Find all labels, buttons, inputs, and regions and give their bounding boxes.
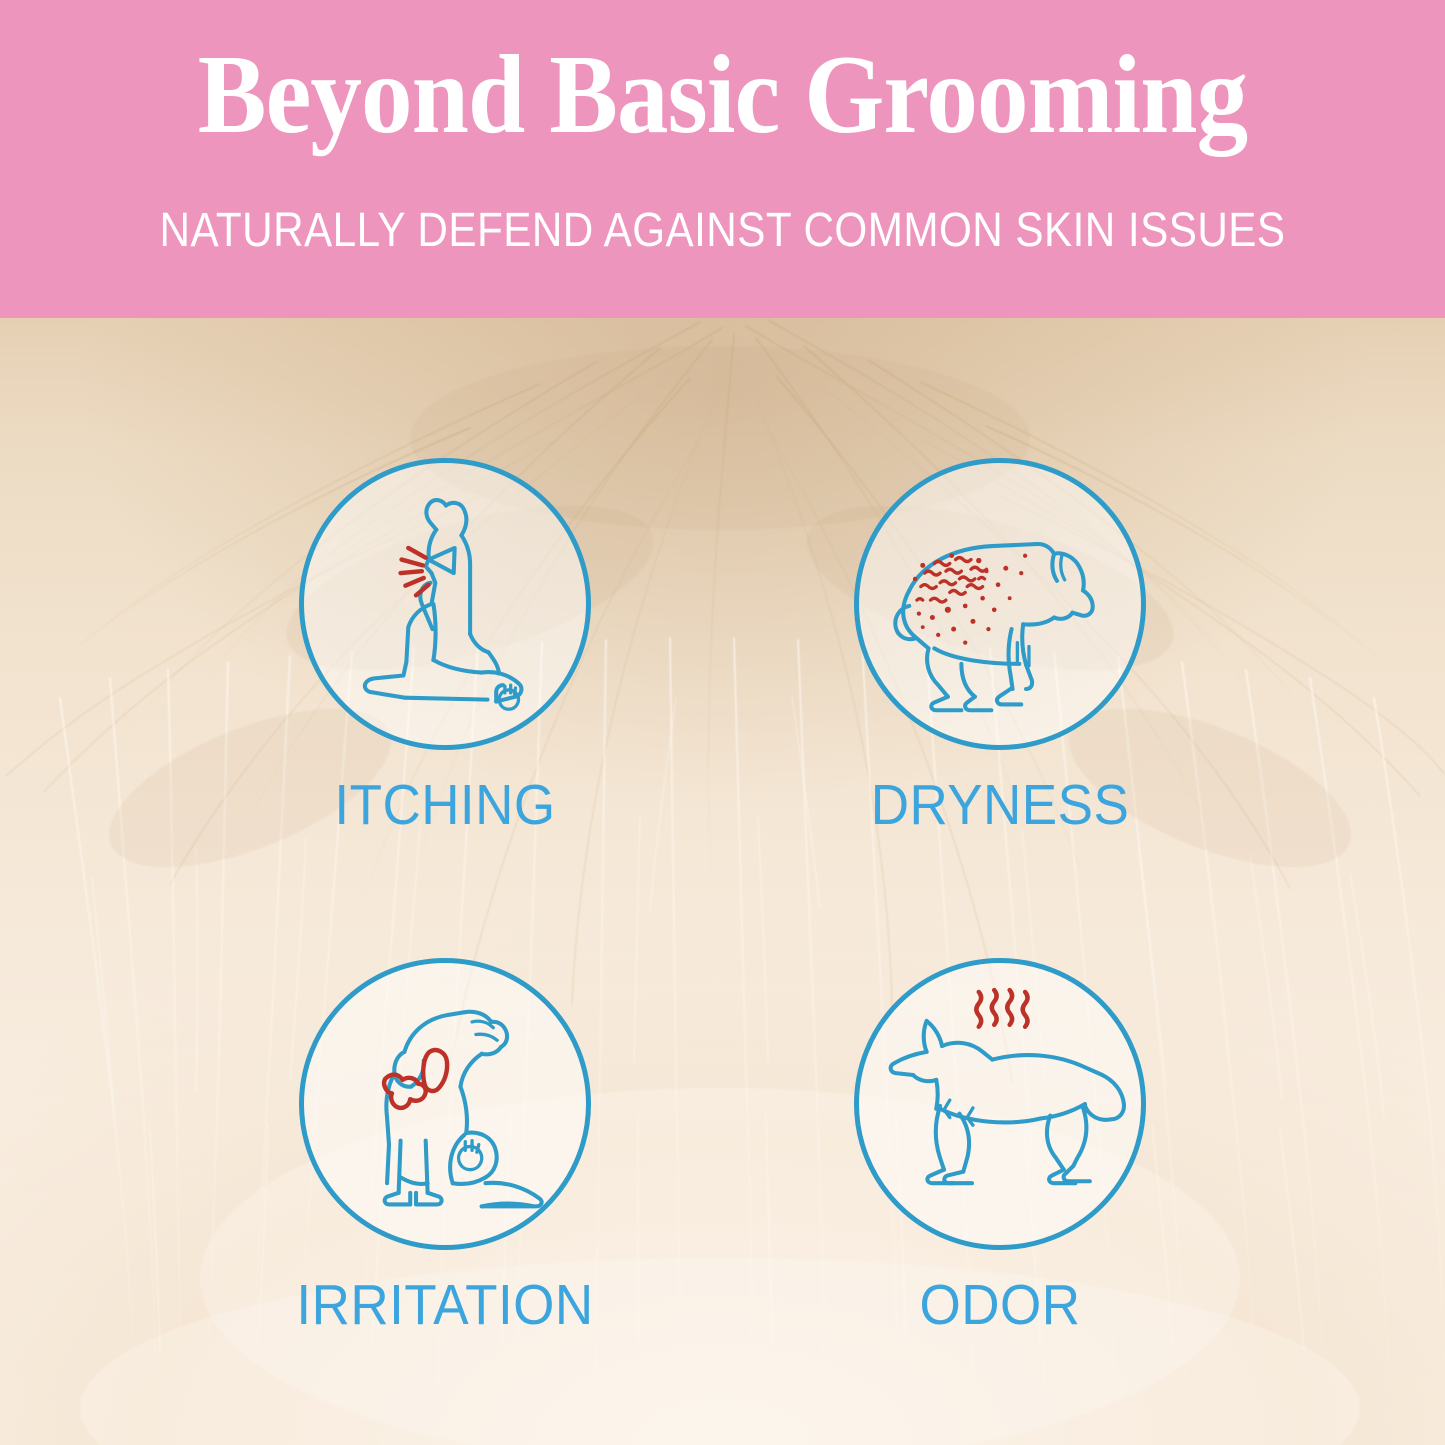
benefit-item-itching: ITCHING [235, 458, 655, 838]
page-subtitle: NATURALLY DEFEND AGAINST COMMON SKIN ISS… [87, 203, 1359, 258]
benefit-disc-dryness [854, 458, 1146, 750]
benefit-disc-itching [299, 458, 591, 750]
benefit-label-itching: ITCHING [250, 772, 641, 838]
benefit-icon-grid: ITCHING [0, 318, 1445, 1445]
benefit-item-irritation: IRRITATION [235, 958, 655, 1338]
page-title: Beyond Basic Grooming [58, 36, 1387, 155]
benefit-item-dryness: DRYNESS [790, 458, 1210, 838]
benefit-disc-irritation [299, 958, 591, 1250]
benefit-item-odor: ODOR [790, 958, 1210, 1338]
benefit-label-odor: ODOR [805, 1272, 1196, 1338]
dog-flaky-skin-icon [859, 463, 1141, 745]
header-band: Beyond Basic Grooming NATURALLY DEFEND A… [0, 0, 1445, 318]
dog-scratching-icon [304, 463, 586, 745]
dog-odor-waves-icon [859, 963, 1141, 1245]
dog-irritated-patches-icon [304, 963, 586, 1245]
benefit-label-irritation: IRRITATION [250, 1272, 641, 1338]
poster: Beyond Basic Grooming NATURALLY DEFEND A… [0, 0, 1445, 1445]
benefit-label-dryness: DRYNESS [805, 772, 1196, 838]
benefit-disc-odor [854, 958, 1146, 1250]
